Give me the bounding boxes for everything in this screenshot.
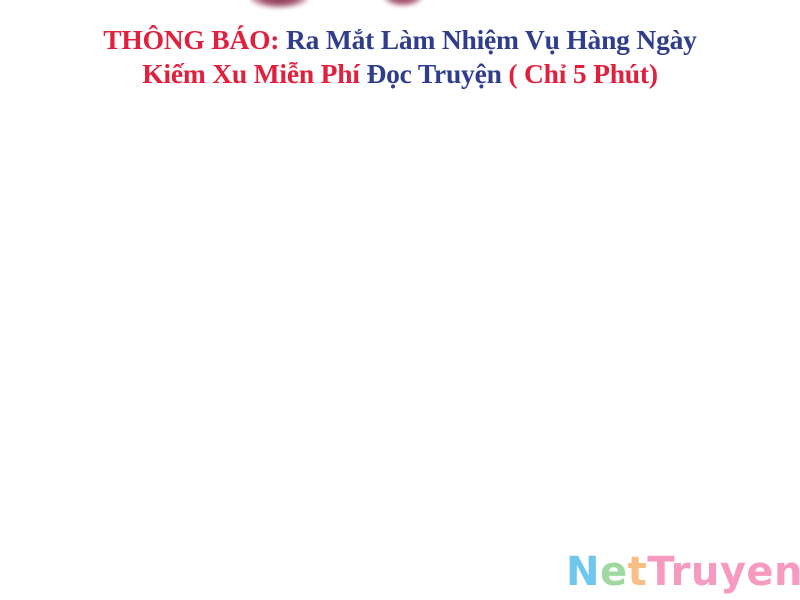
logo-letter-e: e bbox=[600, 552, 628, 592]
headline-line-2: Kiếm Xu Miễn Phí Đọc Truyện ( Chỉ 5 Phút… bbox=[0, 58, 800, 90]
headline-line-2-blue-text: Đọc Truyện bbox=[360, 58, 502, 89]
nettruyen-watermark-logo: NetTruyen bbox=[566, 552, 800, 592]
logo-letter-t: t bbox=[628, 552, 648, 592]
headline-line-2-red-text-a: Kiếm Xu Miễn Phí bbox=[142, 58, 360, 89]
glyph-bleed-blob-right bbox=[384, 0, 422, 6]
headline-line-2-red-text-b: ( Chỉ 5 Phút) bbox=[502, 58, 658, 89]
top-edge-bleed-artifacts bbox=[0, 0, 800, 16]
logo-letter-n: N bbox=[566, 552, 600, 592]
headline-line-1: THÔNG BÁO: Ra Mắt Làm Nhiệm Vụ Hàng Ngày bbox=[0, 24, 800, 56]
headline-line-2-red-inner-b: ( Chỉ 5 Phút) bbox=[508, 58, 657, 89]
headline-line-1-blue-inner: Ra Mắt Làm Nhiệm Vụ Hàng Ngày bbox=[286, 24, 697, 55]
glyph-bleed-blob-left bbox=[250, 0, 308, 8]
announcement-headline: THÔNG BÁO: Ra Mắt Làm Nhiệm Vụ Hàng Ngày… bbox=[0, 24, 800, 91]
headline-line-2-blue-inner: Đọc Truyện bbox=[366, 58, 501, 89]
logo-letters-truyen: Truyen bbox=[647, 552, 800, 592]
headline-line-1-blue-text: Ra Mắt Làm Nhiệm Vụ Hàng Ngày bbox=[279, 24, 696, 55]
headline-label-thong-bao: THÔNG BÁO: bbox=[103, 24, 279, 55]
comic-announcement-panel: THÔNG BÁO: Ra Mắt Làm Nhiệm Vụ Hàng Ngày… bbox=[0, 0, 800, 600]
